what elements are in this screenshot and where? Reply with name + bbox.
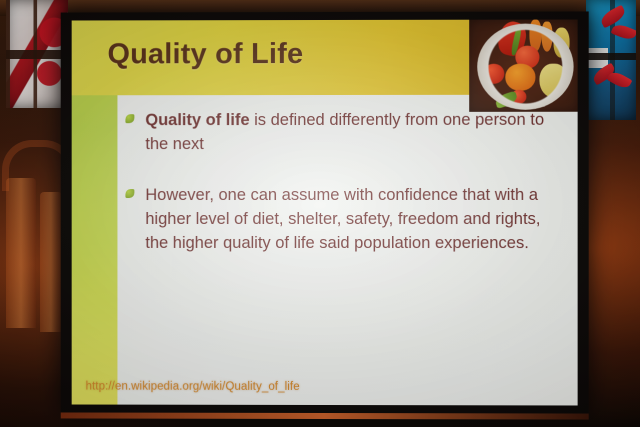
wall-pillar-left	[6, 178, 36, 328]
slide-title: Quality of Life	[107, 38, 303, 71]
stained-glass-window-left	[6, 0, 68, 108]
slide-body: Quality of life is defined differently f…	[123, 108, 559, 282]
leaf-bullet-icon	[125, 114, 134, 123]
vegetable-bowl-image	[469, 20, 577, 112]
presentation-slide: Quality of Life Quality of life	[72, 20, 578, 406]
projected-slide-photograph: Quality of Life Quality of life	[0, 0, 640, 427]
list-item: However, one can assume with confidence …	[123, 182, 559, 255]
bullet-body-text: However, one can assume with confidence …	[145, 185, 540, 252]
source-url: http://en.wikipedia.org/wiki/Quality_of_…	[86, 381, 300, 393]
list-item: Quality of life is defined differently f…	[123, 108, 559, 157]
bowl-rim	[477, 24, 573, 110]
wall-pillar-right	[40, 192, 62, 332]
bullet-lead-text: Quality of life	[145, 111, 249, 129]
leaf-bullet-icon	[125, 189, 134, 198]
projection-screen-frame: Quality of Life Quality of life	[61, 11, 589, 414]
window-mullion-horizontal	[586, 53, 636, 60]
stained-glass-window-right	[586, 0, 636, 120]
